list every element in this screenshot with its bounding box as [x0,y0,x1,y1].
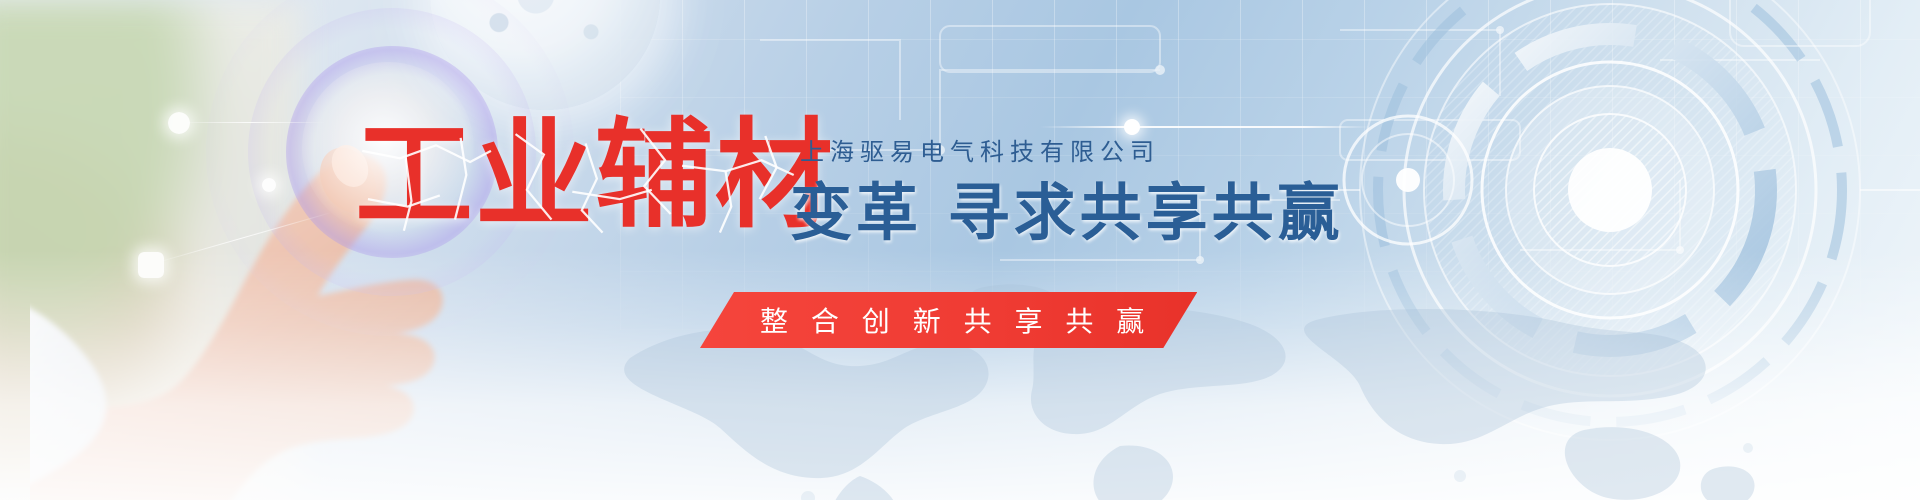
slogan-text: 整 合 创 新 共 享 共 赢 [760,300,1151,340]
headline-blue: 变革 寻求共享共赢 [790,182,1344,244]
banner-content: 工业辅材 [0,0,1920,500]
company-name: 上海驱易电气科技有限公司 [800,140,1160,164]
headline-red-text: 工业辅材 [355,106,835,244]
headline-red: 工业辅材 [355,116,835,234]
promo-banner: 工业辅材 [0,0,1920,500]
slogan-ribbon: 整 合 创 新 共 享 共 赢 [700,292,1197,348]
